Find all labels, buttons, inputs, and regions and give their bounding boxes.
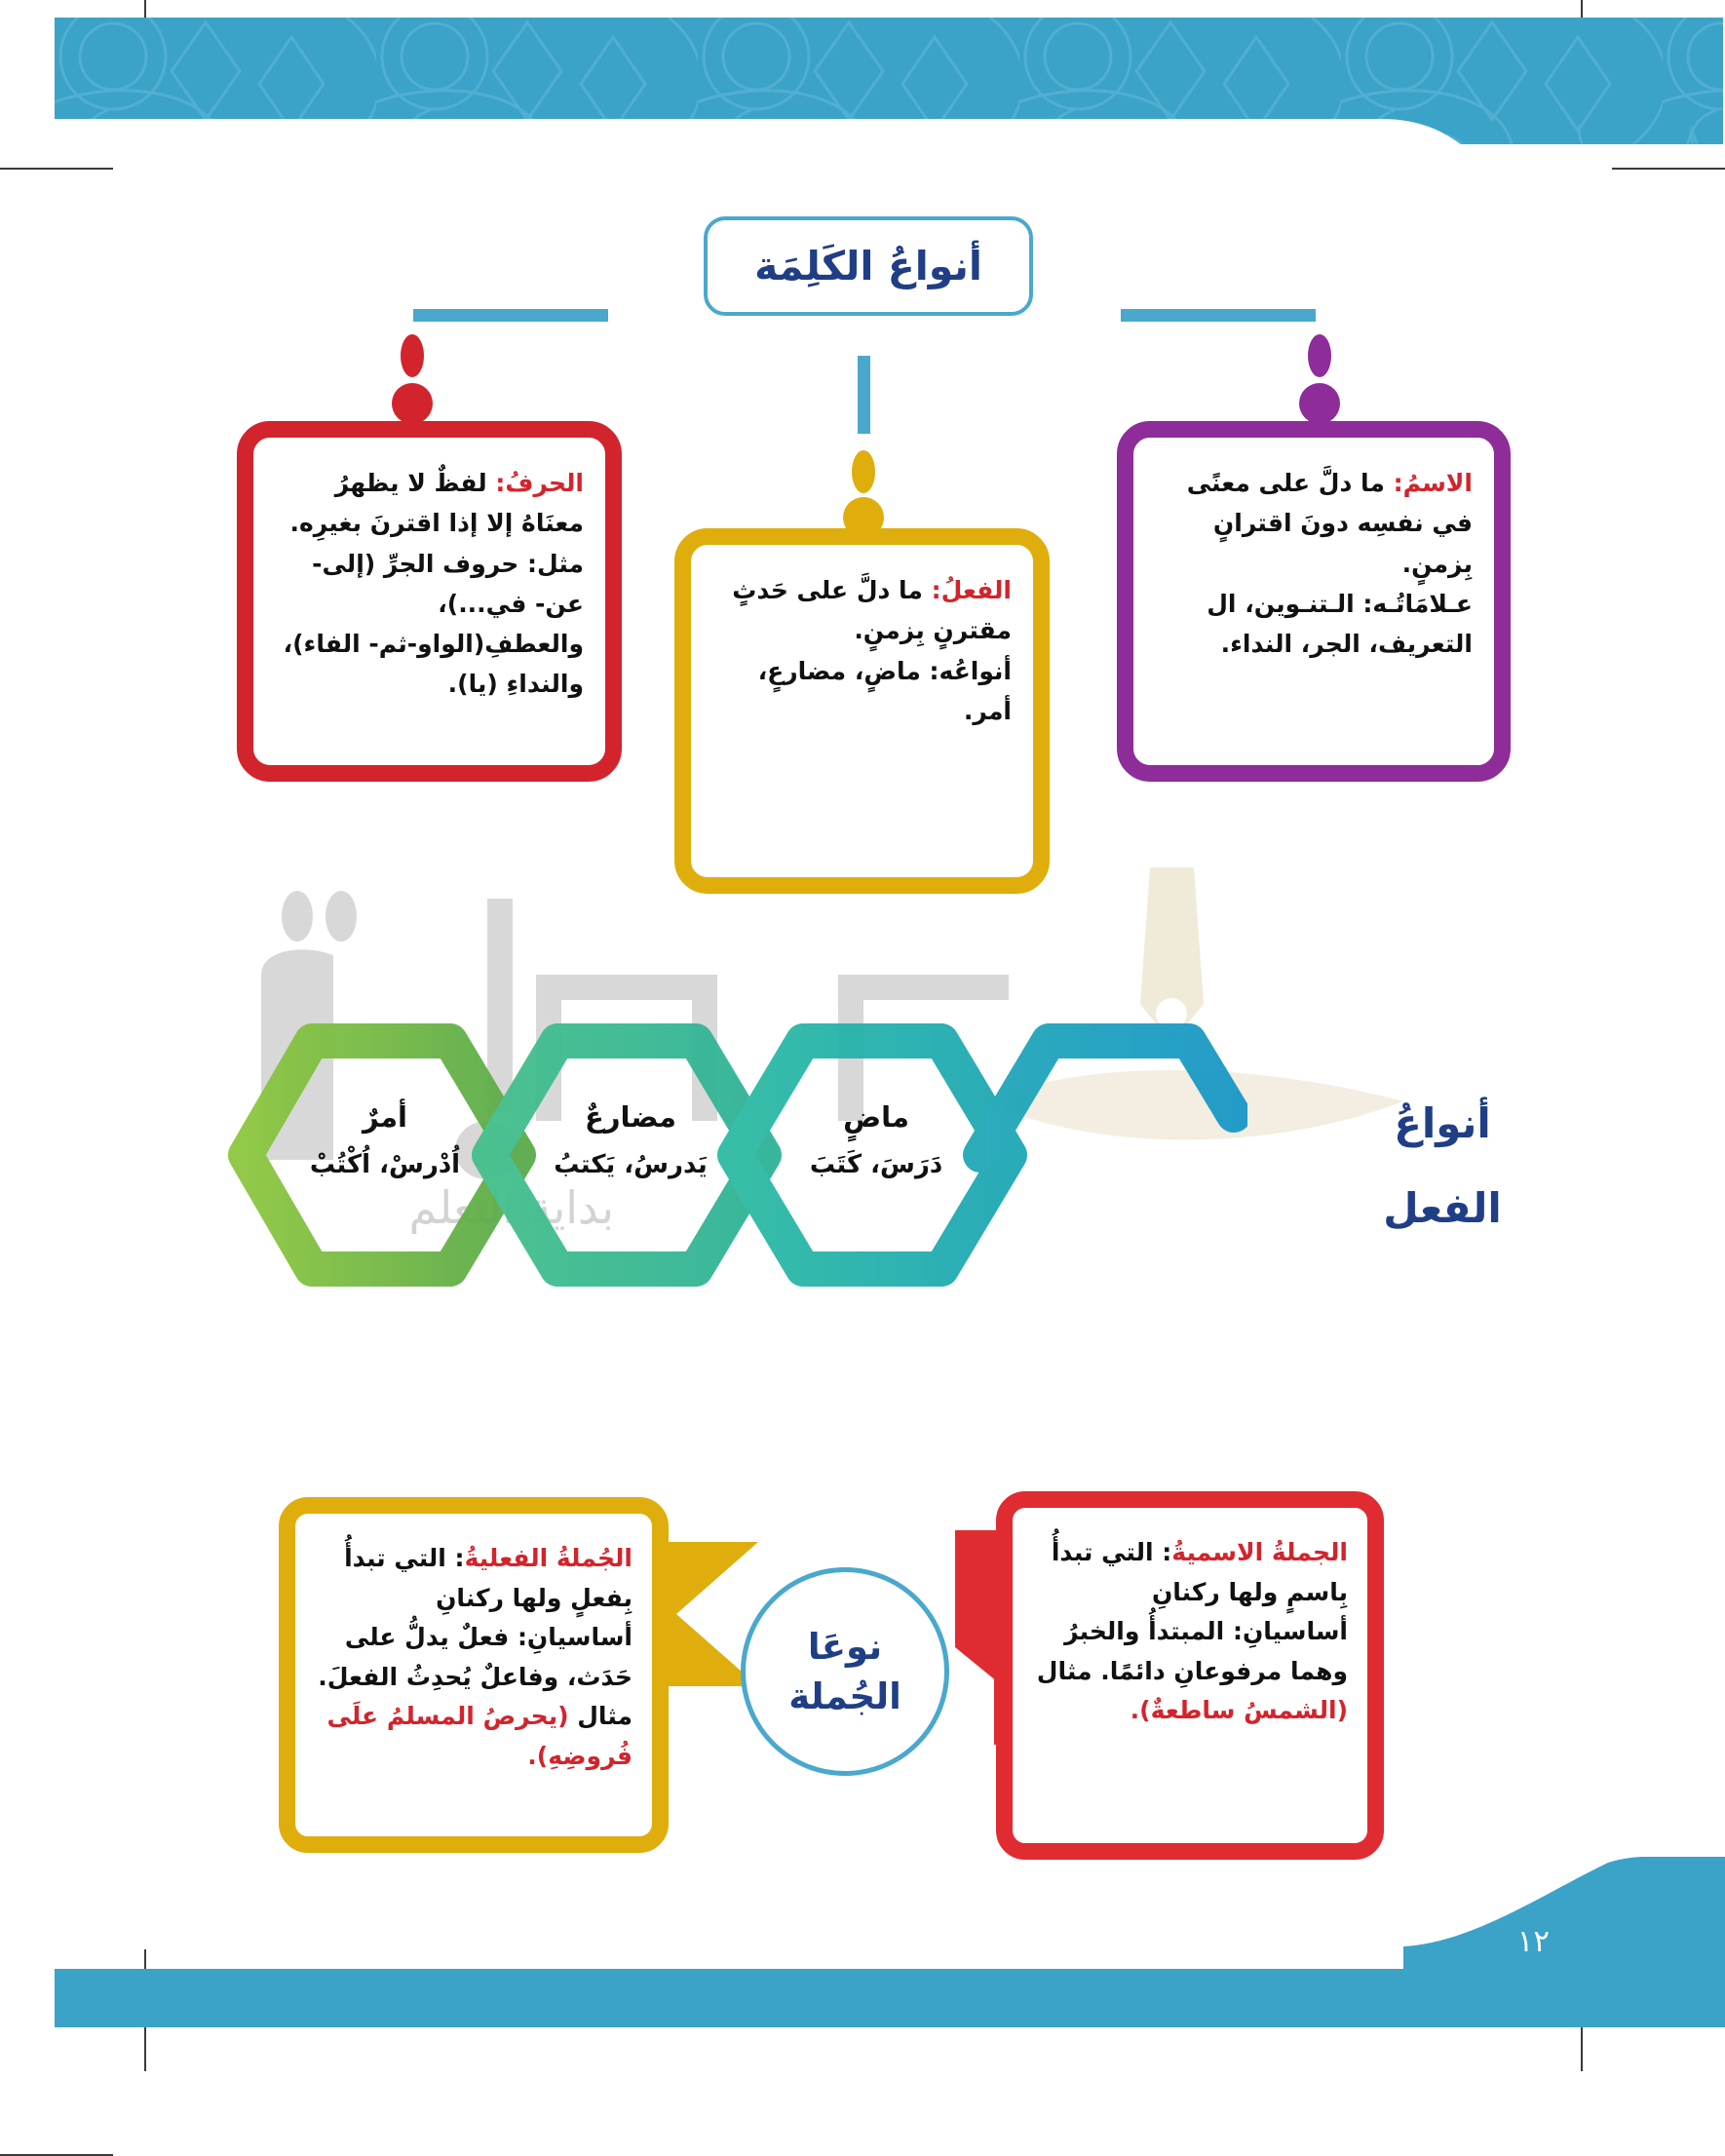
concept-box-ism-content: الاسمُ: ما دلَّ على معنًى في نفسِه دونَ … (1133, 438, 1494, 681)
fiil-line-4: أمر. (964, 697, 1012, 725)
nominal-line-1: : التي (1101, 1538, 1171, 1566)
verb-type-amr-name: أمرٌ (249, 1101, 521, 1134)
harf-line-1: لفظٌ لا يظهرُ (335, 469, 487, 497)
page-canvas: أنواعُ الكَلِمَة الحرفُ: لفظٌ لا يظهرُ م… (0, 0, 1725, 2071)
fiil-line-3: أنواعُه: ماضٍ، مضارعٍ، (758, 657, 1012, 685)
verb-type-amr-examples: اُدْرسْ، اُكْتُبْ (249, 1149, 521, 1182)
sentence-box-verbal-content: الجُملةُ الفعليةُ: التي تبدأُ بِفعلٍ وله… (295, 1514, 652, 1801)
sentence-box-nominal-content: الجملةُ الاسميةُ: التي تبدأُ بِاسمٍ ولها… (1013, 1508, 1367, 1756)
concept-label-harf: الحرفُ: (495, 469, 584, 497)
connector-stem-center (858, 356, 870, 434)
trim-mark-left-top (0, 168, 113, 170)
concept-box-harf-content: الحرفُ: لفظٌ لا يظهرُ معنَاهُ إلا إذا اق… (253, 438, 605, 722)
page-number-tab (1403, 1857, 1725, 1969)
page-header (55, 18, 1723, 144)
harf-line-3: مثل: حروف الجرِّ (384, 550, 584, 578)
fiil-line-2: مقترنٍ بِزمنٍ. (854, 616, 1012, 644)
sentence-label-verbal: الجُملةُ الفعليةُ (465, 1544, 632, 1572)
verb-types-heading: أنواعُ الفعل (1330, 1099, 1554, 1232)
connector-dot-red-small (401, 334, 424, 377)
nominal-line-3: أساسيانِ: المبتدأُ والخبرُ (1064, 1617, 1348, 1645)
verb-types-heading-line1: أنواعُ (1330, 1099, 1554, 1147)
concept-box-harf[interactable]: الحرفُ: لفظٌ لا يظهرُ معنَاهُ إلا إذا اق… (237, 421, 622, 782)
harf-line-6: والنداءِ (يا). (448, 670, 584, 698)
sentence-box-nominal[interactable]: الجملةُ الاسميةُ: التي تبدأُ بِاسمٍ ولها… (996, 1491, 1384, 1860)
connector-dot-purple-small (1308, 334, 1331, 377)
connector-bar-right (1121, 309, 1316, 322)
connector-bar-left (413, 309, 608, 322)
concept-label-ism: الاسمُ: (1394, 469, 1473, 497)
verb-types-chain: أمرٌ اُدْرسْ، اُكْتُبْ مضارعٌ يَدرسُ، يَ… (175, 994, 1247, 1316)
nominal-example: (الشمسُ ساطعةٌ). (1131, 1696, 1348, 1724)
ism-line-5: النداء. (1221, 630, 1292, 658)
verb-types-heading-line2: الفعل (1330, 1184, 1554, 1232)
connector-dot-purple-large (1299, 383, 1340, 424)
ism-line-3: عـلامَاتُـه: الـتنـوين، (1245, 590, 1473, 618)
nominal-line-4: وهما مرفوعانِ دائمًا. مثال (1037, 1657, 1348, 1685)
verb-type-amr: أمرٌ اُدْرسْ، اُكْتُبْ (249, 1101, 521, 1182)
trim-mark-right-top (1612, 168, 1725, 170)
verbal-line-1: : التي تبدأُ (344, 1544, 464, 1572)
sentence-types-center-line2: الجُملة (788, 1675, 901, 1717)
page-footer (55, 1969, 1725, 2027)
connector-dot-red-large (392, 383, 433, 424)
header-band (55, 18, 1723, 144)
concept-box-fiil[interactable]: الفعلُ: ما دلَّ على حَدثٍ مقترنٍ بِزمنٍ.… (674, 528, 1050, 894)
concept-box-fiil-content: الفعلُ: ما دلَّ على حَدثٍ مقترنٍ بِزمنٍ.… (691, 545, 1033, 749)
sentence-types-center-node[interactable]: نوعَا الجُملة (741, 1567, 949, 1776)
harf-line-2: معنَاهُ إلا إذا اقترنَ بغيرِه. (290, 509, 584, 537)
verb-type-mudari-examples: يَدرسُ، يَكتبُ (494, 1149, 767, 1182)
concept-label-fiil: الفعلُ: (932, 576, 1012, 604)
verb-type-madi-examples: دَرَسَ، كَتَبَ (740, 1149, 1013, 1182)
verb-type-mudari-name: مضارعٌ (494, 1101, 767, 1134)
page-title-text: أنواعُ الكَلِمَة (754, 243, 982, 289)
verb-type-madi-name: ماضٍ (740, 1101, 1013, 1134)
concept-box-ism[interactable]: الاسمُ: ما دلَّ على معنًى في نفسِه دونَ … (1117, 421, 1511, 782)
fiil-line-1: ما دلَّ على حَدثٍ (732, 576, 923, 604)
verb-type-madi: ماضٍ دَرَسَ، كَتَبَ (740, 1101, 1013, 1182)
sentence-label-nominal: الجملةُ الاسميةُ (1171, 1538, 1348, 1566)
sentence-box-verbal[interactable]: الجُملةُ الفعليةُ: التي تبدأُ بِفعلٍ وله… (279, 1497, 669, 1853)
page-title: أنواعُ الكَلِمَة (704, 216, 1033, 316)
page-number: ١٢ (1517, 1924, 1550, 1959)
verb-type-mudari: مضارعٌ يَدرسُ، يَكتبُ (494, 1101, 767, 1182)
connector-dot-yellow-small (852, 450, 875, 493)
sentence-types-center-line1: نوعَا (808, 1626, 882, 1668)
harf-line-5: والعطفِ(الواو-ثم- الفاء)، (284, 630, 584, 658)
